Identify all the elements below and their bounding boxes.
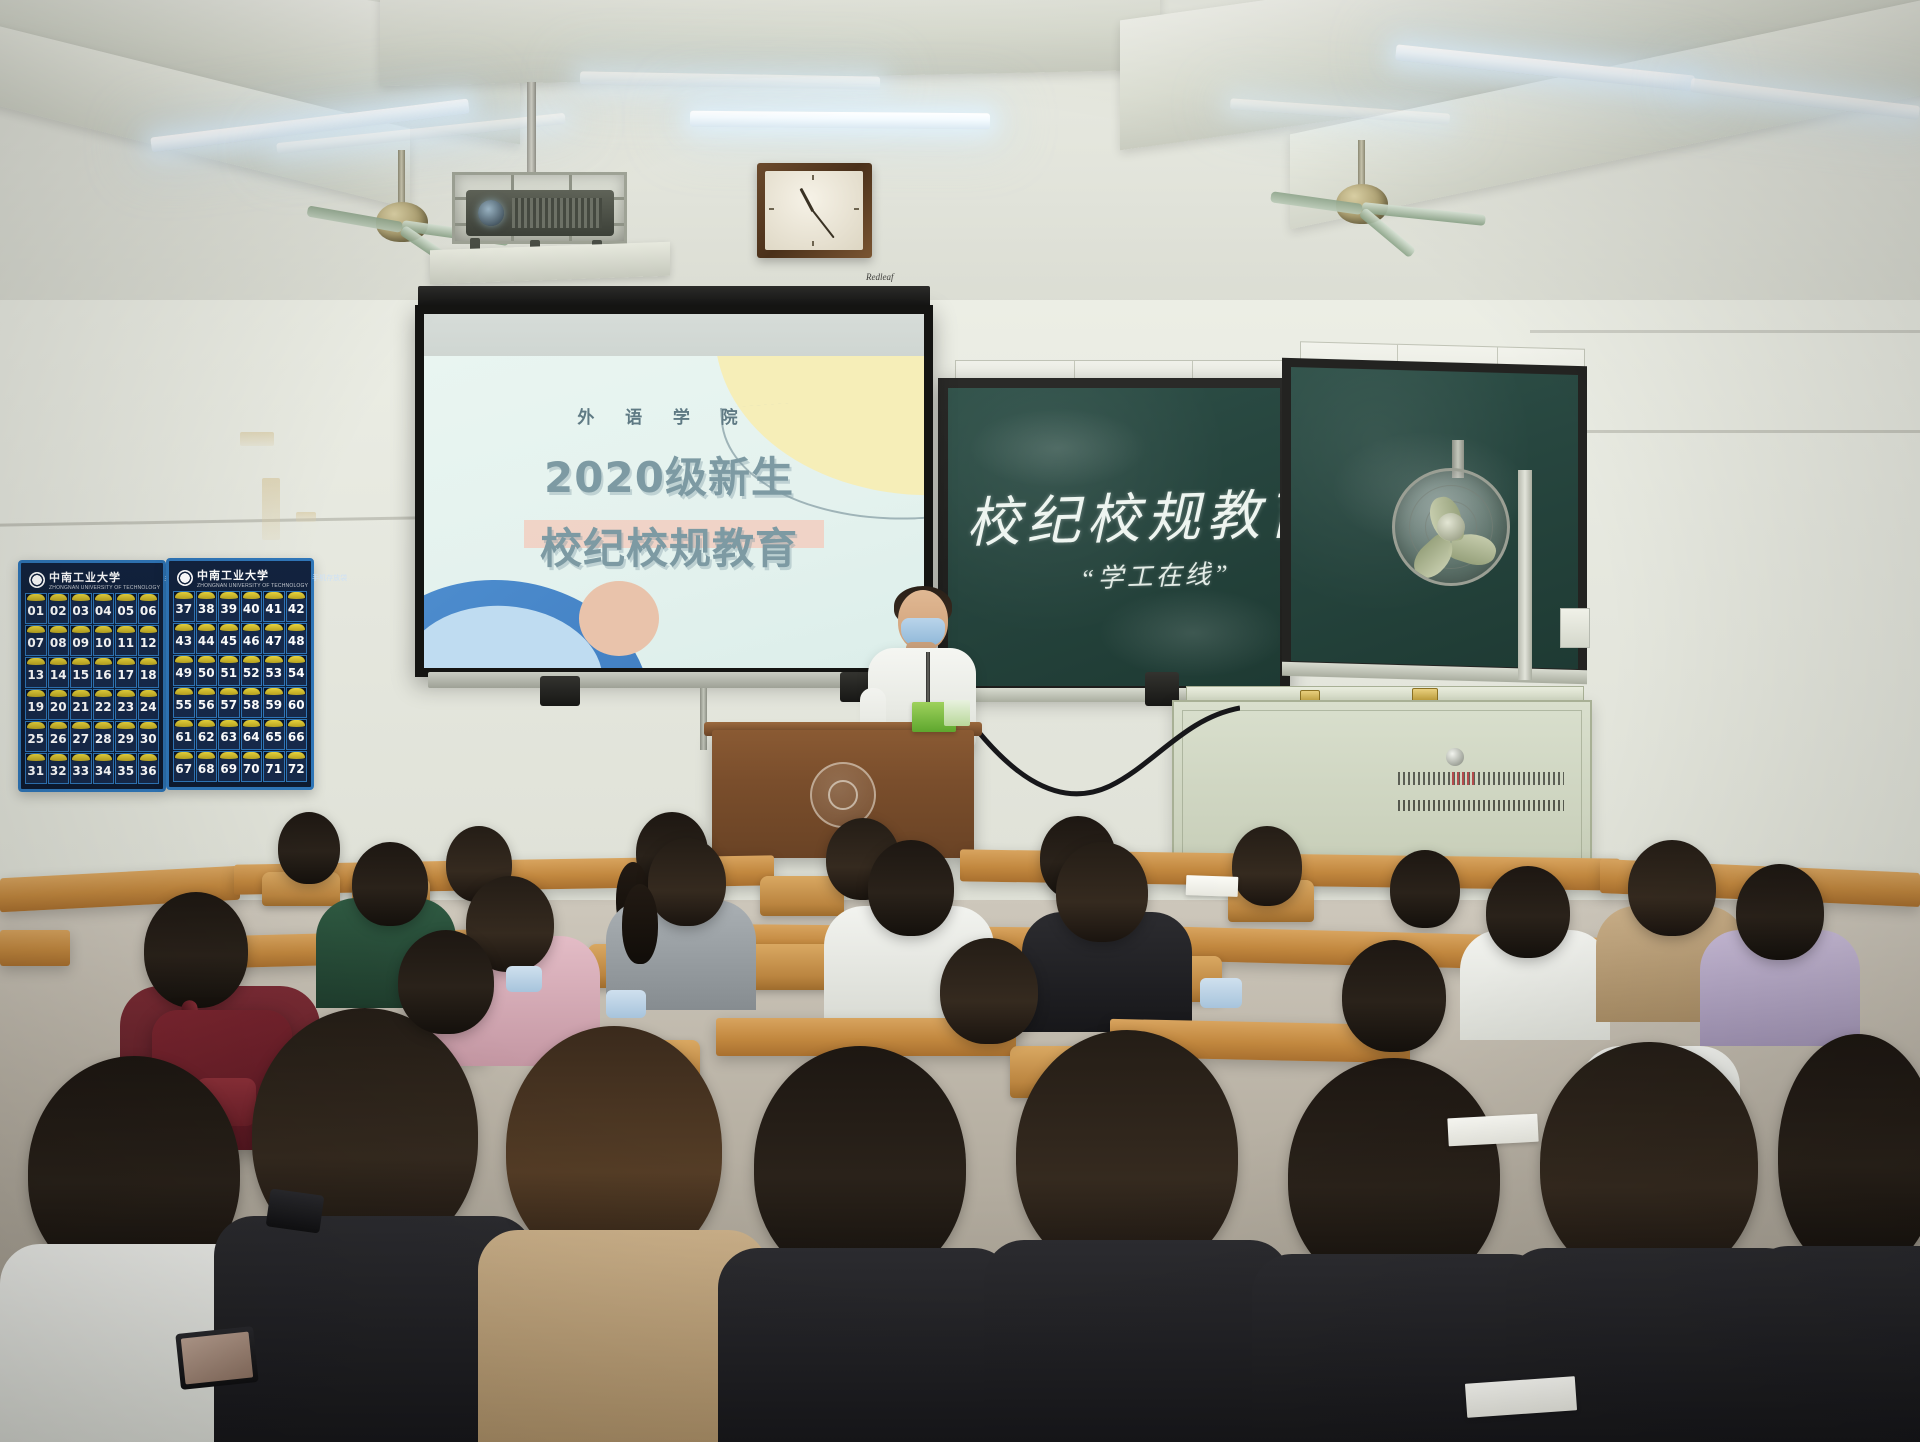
phone-board-university-name-en: ZHONGNAN UNIVERSITY OF TECHNOLOGY [197, 583, 308, 589]
phone-slot-number: 44 [198, 634, 215, 648]
phone-slot-number: 15 [72, 668, 89, 682]
paper-sheet [1186, 875, 1239, 897]
phone-slot-number: 10 [95, 636, 112, 650]
phone-slot[interactable]: 24 [138, 689, 160, 720]
phone-slot[interactable]: 46 [241, 623, 263, 654]
ceiling-beam-center [380, 0, 1160, 86]
phone-slot[interactable]: 57 [218, 687, 240, 718]
phone-board-university-name: 中南工业大学 [197, 567, 308, 583]
phone-slot[interactable]: 65 [263, 719, 285, 750]
phone-slot[interactable]: 38 [196, 591, 218, 622]
ceiling-fan [1280, 140, 1490, 285]
phone-slot-number: 08 [50, 636, 67, 650]
phone-slot-number: 37 [175, 602, 192, 616]
phone-slot[interactable]: 21 [70, 689, 92, 720]
slide-title-line-2: 校纪校规教育 [424, 515, 914, 576]
phone-slot[interactable]: 59 [263, 687, 285, 718]
phone-slot-number: 35 [117, 764, 134, 778]
phone-slot[interactable]: 11 [115, 625, 137, 656]
phone-slot-number: 47 [265, 634, 282, 648]
phone-slot[interactable]: 20 [48, 689, 70, 720]
phone-board-header: 中南工业大学 ZHONGNAN UNIVERSITY OF TECHNOLOGY… [25, 567, 159, 593]
paper-sheet [1447, 1114, 1538, 1147]
phone-slot-number: 31 [27, 764, 44, 778]
phone-slot-number: 32 [50, 764, 67, 778]
phone-slot-number: 72 [288, 762, 305, 776]
phone-slot-number: 55 [175, 698, 192, 712]
student-shoulders [984, 1240, 1290, 1442]
phone-slot-number: 20 [50, 700, 67, 714]
student-head [940, 938, 1038, 1044]
phone-slot-number: 39 [220, 602, 237, 616]
student-shoulders [718, 1248, 1014, 1442]
cabinet-label-strip [1398, 772, 1564, 785]
phone-slot-number: 64 [243, 730, 260, 744]
slide-decoration-peach-circle [579, 581, 659, 656]
student-head [1486, 866, 1570, 958]
phone-board-university-name: 中南工业大学 [49, 569, 160, 585]
phone-slot[interactable]: 61 [173, 719, 195, 750]
phone-slot-number: 09 [72, 636, 89, 650]
phone-slot-number: 07 [27, 636, 44, 650]
student-head [144, 892, 248, 1008]
phone-slot-number: 54 [288, 666, 305, 680]
phone-slot[interactable]: 35 [115, 753, 137, 784]
phone-slot[interactable]: 10 [93, 625, 115, 656]
phone-slot[interactable]: 47 [263, 623, 285, 654]
phone-slot-number: 61 [175, 730, 192, 744]
phone-slot[interactable]: 72 [286, 751, 308, 782]
ceiling-fan-rod [1358, 140, 1365, 190]
phone-slot[interactable]: 39 [218, 591, 240, 622]
white-box-on-podium [944, 700, 970, 726]
phone-slot-number: 06 [140, 604, 157, 618]
student-head [868, 840, 954, 936]
phone-slot[interactable]: 31 [25, 753, 47, 784]
phone-slot[interactable]: 04 [93, 593, 115, 624]
chalkboard-subline: “学工在线” [1079, 553, 1231, 595]
phone-slot[interactable]: 19 [25, 689, 47, 720]
phone-slot[interactable]: 26 [48, 721, 70, 752]
phone-slot[interactable]: 41 [263, 591, 285, 622]
phone-slot[interactable]: 08 [48, 625, 70, 656]
wall-speaker [540, 676, 580, 706]
phone-slot-number: 03 [72, 604, 89, 618]
phone-slot-number: 13 [27, 668, 44, 682]
student-head [278, 812, 340, 884]
phone-slot[interactable]: 54 [286, 655, 308, 686]
phone-slot[interactable]: 32 [48, 753, 70, 784]
phone-slot[interactable]: 45 [218, 623, 240, 654]
ceiling-fan-rod [398, 150, 405, 208]
student-shoulders [1748, 1246, 1920, 1442]
phone-slot-number: 50 [198, 666, 215, 680]
phone-slot[interactable]: 63 [218, 719, 240, 750]
phone-slot-number: 60 [288, 698, 305, 712]
phone-slot[interactable]: 40 [241, 591, 263, 622]
wall-switch[interactable] [1560, 608, 1590, 648]
phone-board-tag: 手机存放袋 [312, 573, 347, 583]
phone-slot[interactable]: 02 [48, 593, 70, 624]
phone-slot[interactable]: 28 [93, 721, 115, 752]
phone-slot[interactable]: 23 [115, 689, 137, 720]
phone-slot-number: 28 [95, 732, 112, 746]
projection-screen-surface: 外 语 学 院 2020级新生 校纪校规教育 [424, 314, 924, 668]
phone-slot-number: 21 [72, 700, 89, 714]
phone-slot[interactable]: 36 [138, 753, 160, 784]
lecture-hall-photo: Redleaf 校纪校规教育 “学工在线” [0, 0, 1920, 1442]
student-head [1736, 864, 1824, 960]
phone-slot[interactable]: 53 [263, 655, 285, 686]
phone-slot-number: 11 [117, 636, 134, 650]
phone-slot-number: 29 [117, 732, 134, 746]
phone-slot-number: 27 [72, 732, 89, 746]
phone-slot-number: 46 [243, 634, 260, 648]
phone-slot[interactable]: 43 [173, 623, 195, 654]
clock-hour-hand [799, 188, 814, 212]
phone-slot-number: 18 [140, 668, 157, 682]
phone-slot[interactable]: 16 [93, 657, 115, 688]
student-face-mask [606, 990, 646, 1018]
phone-storage-board: 中南工业大学 ZHONGNAN UNIVERSITY OF TECHNOLOGY… [166, 558, 314, 790]
phone-slot[interactable]: 49 [173, 655, 195, 686]
phone-board-university-name-en: ZHONGNAN UNIVERSITY OF TECHNOLOGY [49, 585, 160, 591]
phone-slot[interactable]: 64 [241, 719, 263, 750]
phone-slot-number: 62 [198, 730, 215, 744]
chalkboard-surface: 校纪校规教育 “学工在线” [948, 388, 1280, 686]
student-head [648, 838, 726, 926]
phone-slot-number: 52 [243, 666, 260, 680]
student-ponytail [622, 884, 658, 964]
student-head [1342, 940, 1446, 1052]
phone-slot[interactable]: 05 [115, 593, 137, 624]
phone-slot[interactable]: 06 [138, 593, 160, 624]
phone-slot[interactable]: 68 [196, 751, 218, 782]
student-face-mask [506, 966, 542, 992]
wall-patch [240, 432, 274, 446]
phone-slot[interactable]: 27 [70, 721, 92, 752]
phone-slot[interactable]: 70 [241, 751, 263, 782]
phone-board-grid: 3738394041424344454647484950515253545556… [173, 591, 307, 782]
podium-emblem-inner-ring [828, 780, 858, 810]
student-head [1628, 840, 1716, 936]
phone-slot-number: 01 [27, 604, 44, 618]
projector-vent [512, 198, 602, 228]
projection-screen[interactable]: 外 语 学 院 2020级新生 校纪校规教育 [415, 305, 933, 677]
phone-slot[interactable]: 29 [115, 721, 137, 752]
phone-slot-number: 56 [198, 698, 215, 712]
phone-slot[interactable]: 18 [138, 657, 160, 688]
phone-slot-number: 12 [140, 636, 157, 650]
phone-slot-number: 58 [243, 698, 260, 712]
phone-slot-number: 19 [27, 700, 44, 714]
phone-slot[interactable]: 58 [241, 687, 263, 718]
smartphone[interactable] [175, 1326, 258, 1390]
phone-slot[interactable]: 33 [70, 753, 92, 784]
phone-slot-number: 23 [117, 700, 134, 714]
phone-slot[interactable]: 71 [263, 751, 285, 782]
phone-slot-number: 38 [198, 602, 215, 616]
phone-slot-number: 41 [265, 602, 282, 616]
phone-slot[interactable]: 56 [196, 687, 218, 718]
phone-slot-number: 71 [265, 762, 282, 776]
student-head [398, 930, 494, 1034]
phone-slot-number: 36 [140, 764, 157, 778]
phone-slot[interactable]: 09 [70, 625, 92, 656]
phone-slot[interactable]: 34 [93, 753, 115, 784]
chalkboard: 校纪校规教育 “学工在线” [938, 378, 1290, 696]
projector-mount-rod [527, 82, 536, 177]
phone-slot[interactable]: 12 [138, 625, 160, 656]
smartphone[interactable] [266, 1188, 325, 1233]
wall-fan-hub [1437, 513, 1465, 541]
phone-slot-number: 66 [288, 730, 305, 744]
slide-title-line-1: 2020级新生 [424, 444, 914, 505]
desk-row [0, 930, 70, 966]
phone-slot[interactable]: 67 [173, 751, 195, 782]
phone-slot[interactable]: 48 [286, 623, 308, 654]
phone-slot-number: 63 [220, 730, 237, 744]
phone-slot-number: 70 [243, 762, 260, 776]
phone-slot-number: 69 [220, 762, 237, 776]
phone-slot-number: 33 [72, 764, 89, 778]
phone-slot-number: 68 [198, 762, 215, 776]
phone-slot[interactable]: 66 [286, 719, 308, 750]
student-head [1390, 850, 1460, 928]
phone-slot-number: 48 [288, 634, 305, 648]
phone-slot[interactable]: 01 [25, 593, 47, 624]
presentation-slide: 外 语 学 院 2020级新生 校纪校规教育 [424, 356, 924, 668]
phone-board-grid: 0102030405060708091011121314151617181920… [25, 593, 159, 784]
student-head-foreground [1778, 1034, 1920, 1274]
phone-slot-number: 30 [140, 732, 157, 746]
phone-slot-number: 53 [265, 666, 282, 680]
phone-board-header: 中南工业大学 ZHONGNAN UNIVERSITY OF TECHNOLOGY… [173, 565, 307, 591]
phone-slot[interactable]: 17 [115, 657, 137, 688]
phone-slot-number: 34 [95, 764, 112, 778]
university-logo-icon [177, 570, 193, 586]
phone-storage-board: 中南工业大学 ZHONGNAN UNIVERSITY OF TECHNOLOGY… [18, 560, 166, 792]
fluorescent-tube-light [690, 111, 990, 130]
phone-slot[interactable]: 51 [218, 655, 240, 686]
phone-slot[interactable]: 44 [196, 623, 218, 654]
projector-lens [478, 200, 504, 226]
student-head [1232, 826, 1302, 906]
phone-slot-number: 24 [140, 700, 157, 714]
phone-slot[interactable]: 15 [70, 657, 92, 688]
phone-slot-number: 40 [243, 602, 260, 616]
slide-kicker-text: 外 语 学 院 [424, 403, 904, 428]
phone-slot-number: 25 [27, 732, 44, 746]
phone-slot-number: 42 [288, 602, 305, 616]
phone-slot[interactable]: 52 [241, 655, 263, 686]
clock-minute-hand [812, 210, 835, 238]
clock-brand-label: Redleaf [866, 272, 936, 282]
chair-back [744, 944, 836, 990]
screen-support-post [700, 688, 707, 750]
phone-slot[interactable]: 60 [286, 687, 308, 718]
phone-slot[interactable]: 14 [48, 657, 70, 688]
phone-slot-number: 17 [117, 668, 134, 682]
cabinet-label-strip [1398, 800, 1564, 811]
phone-slot-number: 59 [265, 698, 282, 712]
cabinet-knob[interactable] [1446, 748, 1464, 766]
phone-slot-number: 02 [50, 604, 67, 618]
phone-slot-number: 57 [220, 698, 237, 712]
phone-slot[interactable]: 69 [218, 751, 240, 782]
wall-clock-face [765, 171, 863, 250]
phone-slot[interactable]: 22 [93, 689, 115, 720]
university-logo-icon [29, 572, 45, 588]
student-head [1056, 842, 1148, 942]
phone-slot[interactable]: 42 [286, 591, 308, 622]
wall-patch [296, 512, 316, 522]
phone-slot-number: 05 [117, 604, 134, 618]
phone-slot-number: 45 [220, 634, 237, 648]
phone-slot[interactable]: 13 [25, 657, 47, 688]
phone-slot-number: 22 [95, 700, 112, 714]
phone-slot-number: 49 [175, 666, 192, 680]
phone-slot[interactable]: 03 [70, 593, 92, 624]
phone-slot-number: 14 [50, 668, 67, 682]
student-head [352, 842, 428, 926]
wall-seam [1530, 330, 1920, 333]
microphone-cable [960, 700, 1240, 810]
chalkboard-headline: 校纪校规教育 [965, 469, 1280, 557]
phone-slot[interactable]: 25 [25, 721, 47, 752]
phone-slot[interactable]: 37 [173, 591, 195, 622]
phone-slot-number: 65 [265, 730, 282, 744]
phone-slot[interactable]: 50 [196, 655, 218, 686]
phone-slot[interactable]: 30 [138, 721, 160, 752]
wall-patch [262, 478, 280, 540]
wall-pipe [1518, 470, 1532, 680]
phone-slot-number: 16 [95, 668, 112, 682]
wall-seam [1530, 430, 1920, 433]
phone-slot[interactable]: 55 [173, 687, 195, 718]
smartphone-screen [181, 1332, 253, 1385]
phone-slot[interactable]: 62 [196, 719, 218, 750]
phone-slot-number: 67 [175, 762, 192, 776]
phone-slot-number: 51 [220, 666, 237, 680]
phone-slot-number: 04 [95, 604, 112, 618]
student-face-mask [1200, 978, 1242, 1008]
phone-slot-number: 43 [175, 634, 192, 648]
phone-slot[interactable]: 07 [25, 625, 47, 656]
phone-slot-number: 26 [50, 732, 67, 746]
cabinet-label-strip-red [1452, 772, 1474, 785]
